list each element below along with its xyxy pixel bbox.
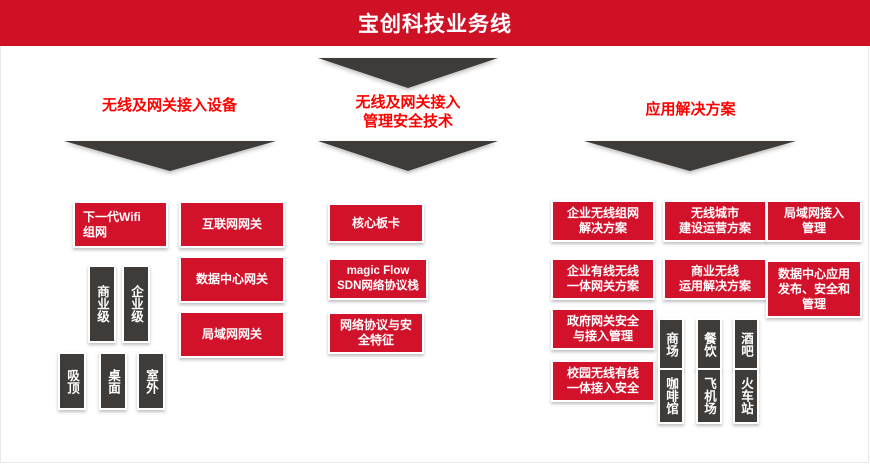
tag-train-station[interactable]: 火车站 [733, 368, 759, 424]
box-core-board[interactable]: 核心板卡 [328, 203, 424, 243]
box-wireless-city-construction[interactable]: 无线城市 建设运营方案 [663, 200, 767, 242]
tag-shopping-mall[interactable]: 商场 [658, 318, 684, 370]
tag-bar[interactable]: 酒吧 [733, 318, 759, 370]
tag-desktop[interactable]: 桌面 [99, 352, 127, 410]
tag-airport[interactable]: 飞机场 [696, 368, 722, 424]
box-government-gateway-security[interactable]: 政府网关安全 与接入管理 [551, 308, 655, 350]
chevron-down-icon-col3 [584, 141, 796, 171]
tag-cafe[interactable]: 咖啡馆 [658, 368, 684, 424]
box-enterprise-wired-wireless-gateway[interactable]: 企业有线无线 一体网关方案 [551, 258, 655, 300]
tag-ceiling-mount[interactable]: 吸顶 [58, 352, 86, 410]
slide-canvas: 宝创科技业务线 无线及网关接入设备 下一代Wifi 组网 商业级 企业级 吸顶 … [0, 0, 870, 464]
column-header-solutions: 应用解决方案 [583, 100, 798, 119]
box-internet-gateway[interactable]: 互联网网关 [179, 201, 285, 248]
chevron-down-icon-col2-bottom [318, 141, 498, 171]
page-title-banner: 宝创科技业务线 [0, 0, 870, 46]
box-enterprise-wireless-solution[interactable]: 企业无线组网 解决方案 [551, 200, 655, 242]
box-business-wireless-application[interactable]: 商业无线 运用解决方案 [663, 258, 767, 300]
chevron-down-icon-col2-top [318, 58, 498, 88]
chevron-down-icon-col1 [64, 141, 276, 171]
column-header-security: 无线及网关接入 管理安全技术 [318, 93, 498, 131]
box-next-gen-wifi[interactable]: 下一代Wifi 组网 [73, 201, 168, 248]
column-header-devices: 无线及网关接入设备 [62, 96, 277, 115]
box-campus-wireless-wired-access[interactable]: 校园无线有线 一体接入安全 [551, 360, 655, 402]
box-magicflow-sdn-stack[interactable]: magic Flow SDN网络协议栈 [328, 258, 428, 300]
box-datacenter-app-publish[interactable]: 数据中心应用 发布、安全和 管理 [766, 260, 862, 318]
box-lan-gateway[interactable]: 局域网网关 [179, 311, 285, 358]
box-lan-access-management[interactable]: 局域网接入 管理 [766, 200, 862, 242]
tag-commercial-grade[interactable]: 商业级 [88, 265, 116, 343]
tag-catering[interactable]: 餐饮 [696, 318, 722, 370]
tag-outdoor[interactable]: 室外 [137, 352, 165, 410]
page-title: 宝创科技业务线 [358, 8, 512, 38]
tag-enterprise-grade[interactable]: 企业级 [122, 265, 150, 343]
box-datacenter-gateway[interactable]: 数据中心网关 [179, 256, 285, 303]
box-network-protocol-security[interactable]: 网络协议与安 全特征 [328, 312, 424, 354]
